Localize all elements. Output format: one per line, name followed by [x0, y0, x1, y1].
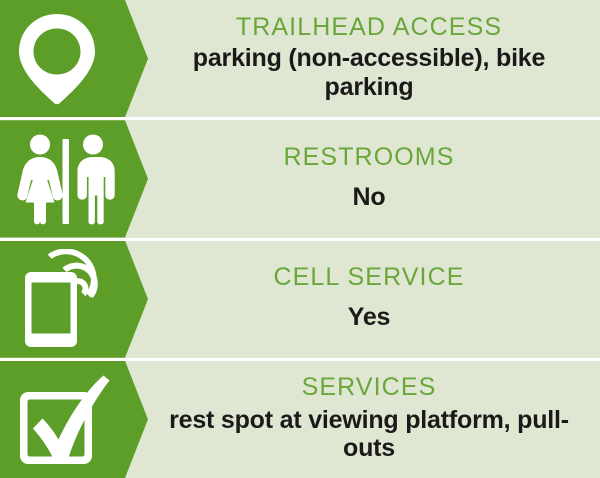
amenity-title: TRAILHEAD ACCESS — [236, 14, 502, 41]
amenity-text-panel: CELL SERVICE Yes — [148, 241, 600, 358]
amenity-title: RESTROOMS — [283, 144, 454, 171]
amenity-row: CELL SERVICE Yes — [0, 241, 600, 361]
amenity-text-panel: RESTROOMS No — [148, 120, 600, 237]
amenity-value: parking (non-accessible), bike parking — [156, 44, 582, 101]
cell-phone-signal-icon — [14, 249, 110, 349]
amenity-value: rest spot at viewing platform, pull-outs — [156, 406, 582, 463]
map-pin-icon — [14, 11, 100, 107]
icon-chevron-badge — [0, 241, 148, 358]
amenity-text-panel: TRAILHEAD ACCESS parking (non-accessible… — [148, 0, 600, 117]
checkbox-check-icon — [14, 370, 110, 468]
amenity-value: Yes — [348, 303, 391, 332]
amenity-row: TRAILHEAD ACCESS parking (non-accessible… — [0, 0, 600, 120]
amenity-text-panel: SERVICES rest spot at viewing platform, … — [148, 361, 600, 478]
restrooms-icon — [14, 133, 118, 225]
icon-chevron-badge — [0, 120, 148, 237]
amenity-title: CELL SERVICE — [273, 264, 464, 291]
amenity-value: No — [353, 183, 386, 212]
amenity-row: RESTROOMS No — [0, 120, 600, 240]
icon-chevron-badge — [0, 0, 148, 117]
amenities-infographic: TRAILHEAD ACCESS parking (non-accessible… — [0, 0, 600, 478]
amenity-row: SERVICES rest spot at viewing platform, … — [0, 361, 600, 478]
amenity-title: SERVICES — [302, 374, 437, 401]
icon-chevron-badge — [0, 361, 148, 478]
